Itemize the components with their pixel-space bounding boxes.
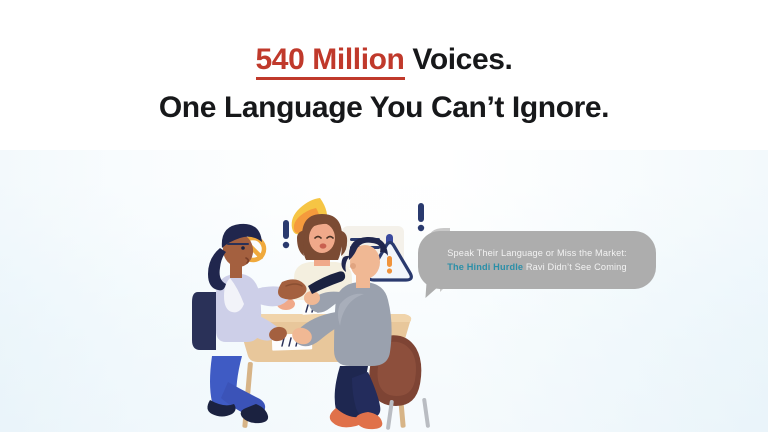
- exclamation-mark-left-icon: [283, 220, 289, 248]
- page-title: 540 Million Voices. One Language You Can…: [0, 45, 768, 123]
- exclamation-mark-top-right-icon: [418, 203, 424, 231]
- headline-accent-text: 540 Million: [256, 43, 405, 80]
- speech-bubble-line-2-rest: Ravi Didn’t See Coming: [523, 262, 627, 272]
- speech-bubble-line-1: Speak Their Language or Miss the Market:: [447, 246, 626, 260]
- speech-bubble: Speak Their Language or Miss the Market:…: [418, 231, 656, 289]
- page-root: 540 Million Voices. One Language You Can…: [0, 0, 768, 432]
- headline-line-1: 540 Million Voices.: [0, 45, 768, 75]
- speech-bubble-accent-text: The Hindi Hurdle: [447, 262, 523, 272]
- headline-line-2: One Language You Can’t Ignore.: [0, 93, 768, 123]
- illustration-language-barrier-meeting: [190, 186, 450, 432]
- headline-line-1-rest: Voices.: [405, 43, 513, 76]
- speech-bubble-line-2: The Hindi Hurdle Ravi Didn’t See Coming: [447, 260, 626, 274]
